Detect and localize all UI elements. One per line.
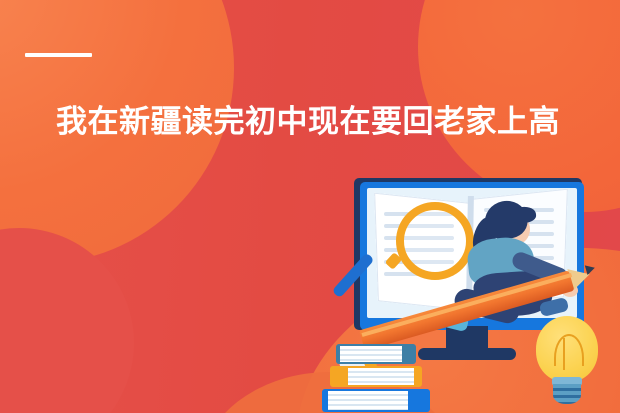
banner-headline: 我在新疆读完初中现在要回老家上高 (56, 104, 616, 141)
pencil-lead-icon (585, 263, 596, 275)
magnifying-glass-icon (396, 202, 474, 280)
book-stack-middle-pages-icon (348, 368, 414, 385)
book-stack-bottom-pages-icon (328, 391, 408, 410)
monitor-base-icon (418, 348, 516, 360)
student-learning-illustration (318, 168, 620, 413)
monitor-neck-icon (446, 326, 488, 350)
lightbulb-base-icon (553, 384, 581, 404)
divider-rule (25, 53, 92, 57)
lightbulb-filament-stem-icon (563, 338, 565, 370)
book-stack-top-pages-icon (340, 346, 402, 362)
banner-image: 我在新疆读完初中现在要回老家上高 (0, 0, 620, 413)
